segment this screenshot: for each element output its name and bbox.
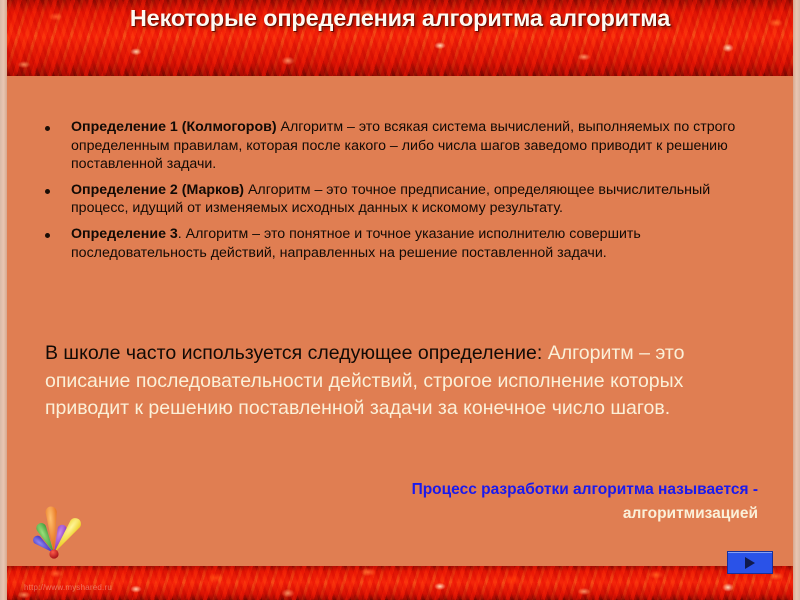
slide-canvas: Некоторые определения алгоритма алгоритм…	[0, 0, 800, 600]
bullet-icon	[45, 233, 50, 238]
conclusion-line-2: алгоритмизацией	[623, 505, 758, 522]
bullet-icon	[45, 126, 50, 131]
page-title: Некоторые определения алгоритма алгоритм…	[130, 5, 670, 32]
school-definition-paragraph: В школе часто используется следующее опр…	[45, 340, 757, 423]
bullet-icon	[45, 189, 50, 194]
definition-text: Определение 1 (Колмогоров) Алгоритм – эт…	[71, 118, 745, 174]
left-edge-strip	[0, 0, 7, 600]
list-item: Определение 1 (Колмогоров) Алгоритм – эт…	[45, 118, 745, 174]
right-edge-strip	[793, 0, 800, 600]
fan-splash-icon	[14, 496, 94, 562]
next-slide-button[interactable]	[727, 551, 773, 574]
conclusion-block: Процесс разработки алгоритма называется …	[198, 478, 758, 526]
play-arrow-icon	[745, 557, 755, 569]
slide-title-bar: Некоторые определения алгоритма алгоритм…	[0, 0, 800, 76]
definition-text: Определение 3. Алгоритм – это понятное и…	[71, 225, 745, 262]
definition-label: Определение 3	[71, 226, 178, 242]
school-definition-lead: В школе часто используется следующее опр…	[45, 342, 542, 364]
definition-label: Определение 1 (Колмогоров)	[71, 119, 277, 135]
list-item: Определение 3. Алгоритм – это понятное и…	[45, 225, 745, 262]
definitions-list: Определение 1 (Колмогоров) Алгоритм – эт…	[45, 118, 745, 269]
footer-texture-band	[0, 566, 800, 600]
definition-text: Определение 2 (Марков) Алгоритм – это то…	[71, 181, 745, 218]
list-item: Определение 2 (Марков) Алгоритм – это то…	[45, 181, 745, 218]
definition-label: Определение 2 (Марков)	[71, 182, 244, 198]
conclusion-line-1: Процесс разработки алгоритма называется …	[412, 481, 758, 498]
